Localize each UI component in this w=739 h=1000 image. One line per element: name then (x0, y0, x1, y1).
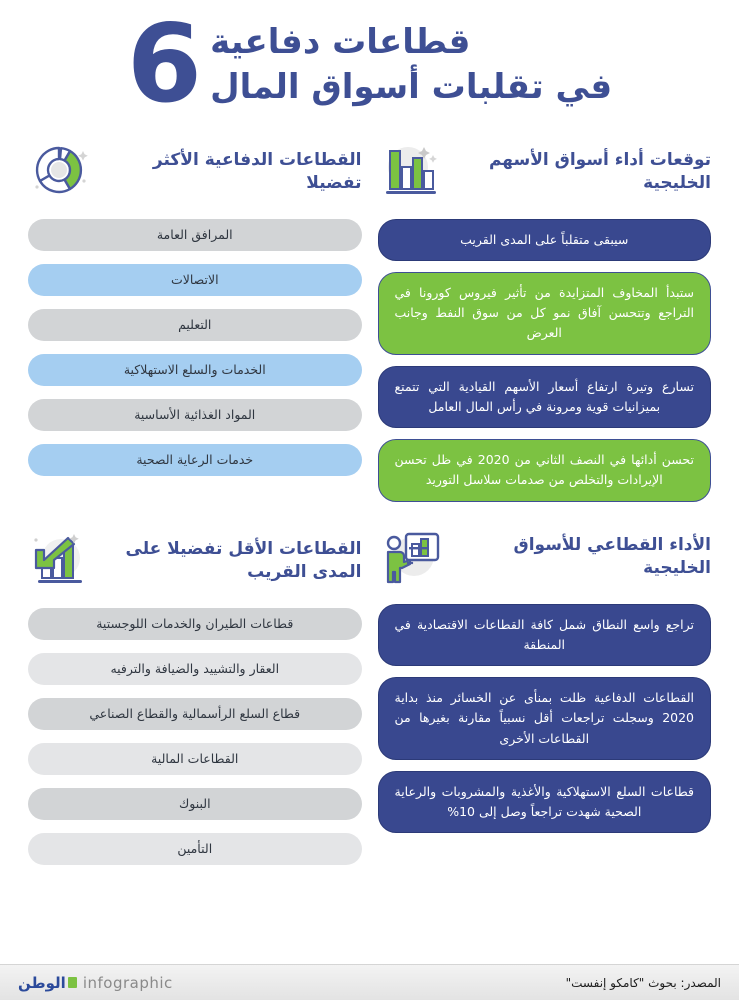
performance-card: تراجع واسع النطاق شمل كافة القطاعات الاق… (378, 604, 712, 667)
content-columns: توقعات أداء أسواق الأسهم الخليجية (0, 123, 739, 878)
section-title: القطاعات الدفاعية الأكثر تفضيلا (104, 149, 362, 195)
list-item: قطاعات الطيران والخدمات اللوجستية (28, 608, 362, 640)
infographic-page: قطاعات دفاعية في تقلبات أسواق المال 6 تو… (0, 0, 739, 1000)
section-head-sector-performance: الأداء القطاعي للأسواق الخليجية (378, 524, 712, 590)
list-item: التأمين (28, 833, 362, 865)
section-head-most-preferred: القطاعات الدفاعية الأكثر تفضيلا (28, 139, 362, 205)
title-line-1: قطاعات دفاعية (210, 20, 470, 65)
outlook-card: تسارع وتيرة ارتفاع أسعار الأسهم القيادية… (378, 366, 712, 429)
outlook-card: تحسن أدائها في النصف الثاني من 2020 في ظ… (378, 439, 712, 502)
source-note: المصدر: بحوث "كامكو إنفست" (566, 976, 721, 990)
list-item: القطاعات المالية (28, 743, 362, 775)
list-item: المرافق العامة (28, 219, 362, 251)
down-arrow-chart-icon (28, 530, 94, 592)
list-item: المواد الغذائية الأساسية (28, 399, 362, 431)
outlook-card: ستبدأ المخاوف المتزايدة من تأثير فيروس ك… (378, 272, 712, 355)
page-footer: المصدر: بحوث "كامكو إنفست" الوطن infogra… (0, 964, 739, 1000)
brand-logo: الوطن infographic (18, 974, 173, 992)
market-outlook-cards: سيبقى متقلباً على المدى القريب ستبدأ الم… (378, 219, 712, 502)
most-preferred-list: المرافق العامة الاتصالات التعليم الخدمات… (28, 219, 362, 476)
page-header: قطاعات دفاعية في تقلبات أسواق المال 6 (0, 0, 739, 123)
section-title: توقعات أداء أسواق الأسهم الخليجية (454, 149, 712, 195)
donut-chart-icon (28, 141, 94, 203)
list-item: التعليم (28, 309, 362, 341)
list-item: قطاع السلع الرأسمالية والقطاع الصناعي (28, 698, 362, 730)
list-item: العقار والتشييد والضيافة والترفيه (28, 653, 362, 685)
alwatan-logo: الوطن (18, 974, 77, 992)
section-head-market-outlook: توقعات أداء أسواق الأسهم الخليجية (378, 139, 712, 205)
bar-chart-icon (378, 141, 444, 203)
brand-infographic-label: infographic (83, 974, 173, 992)
headline-number: 6 (127, 14, 200, 117)
outlook-card: سيبقى متقلباً على المدى القريب (378, 219, 712, 261)
presenter-board-icon (378, 526, 444, 588)
performance-card: قطاعات السلع الاستهلاكية والأغذية والمشر… (378, 771, 712, 834)
right-column: توقعات أداء أسواق الأسهم الخليجية (370, 123, 724, 878)
section-head-least-preferred: القطاعات الأقل تفضيلا على المدى القريب (28, 528, 362, 594)
title-line-2: في تقلبات أسواق المال (210, 65, 612, 110)
list-item: البنوك (28, 788, 362, 820)
brand-green-square-icon (68, 977, 77, 988)
least-preferred-list: قطاعات الطيران والخدمات اللوجستية العقار… (28, 608, 362, 865)
section-title: القطاعات الأقل تفضيلا على المدى القريب (104, 538, 362, 584)
list-item: الخدمات والسلع الاستهلاكية (28, 354, 362, 386)
brand-arabic-name: الوطن (18, 974, 66, 992)
sector-performance-cards: تراجع واسع النطاق شمل كافة القطاعات الاق… (378, 604, 712, 834)
performance-card: القطاعات الدفاعية ظلت بمنأى عن الخسائر م… (378, 677, 712, 760)
page-title: قطاعات دفاعية في تقلبات أسواق المال (210, 14, 612, 110)
left-column: القطاعات الدفاعية الأكثر تفضيلا (16, 123, 370, 878)
section-title: الأداء القطاعي للأسواق الخليجية (454, 534, 712, 580)
list-item: الاتصالات (28, 264, 362, 296)
list-item: خدمات الرعاية الصحية (28, 444, 362, 476)
